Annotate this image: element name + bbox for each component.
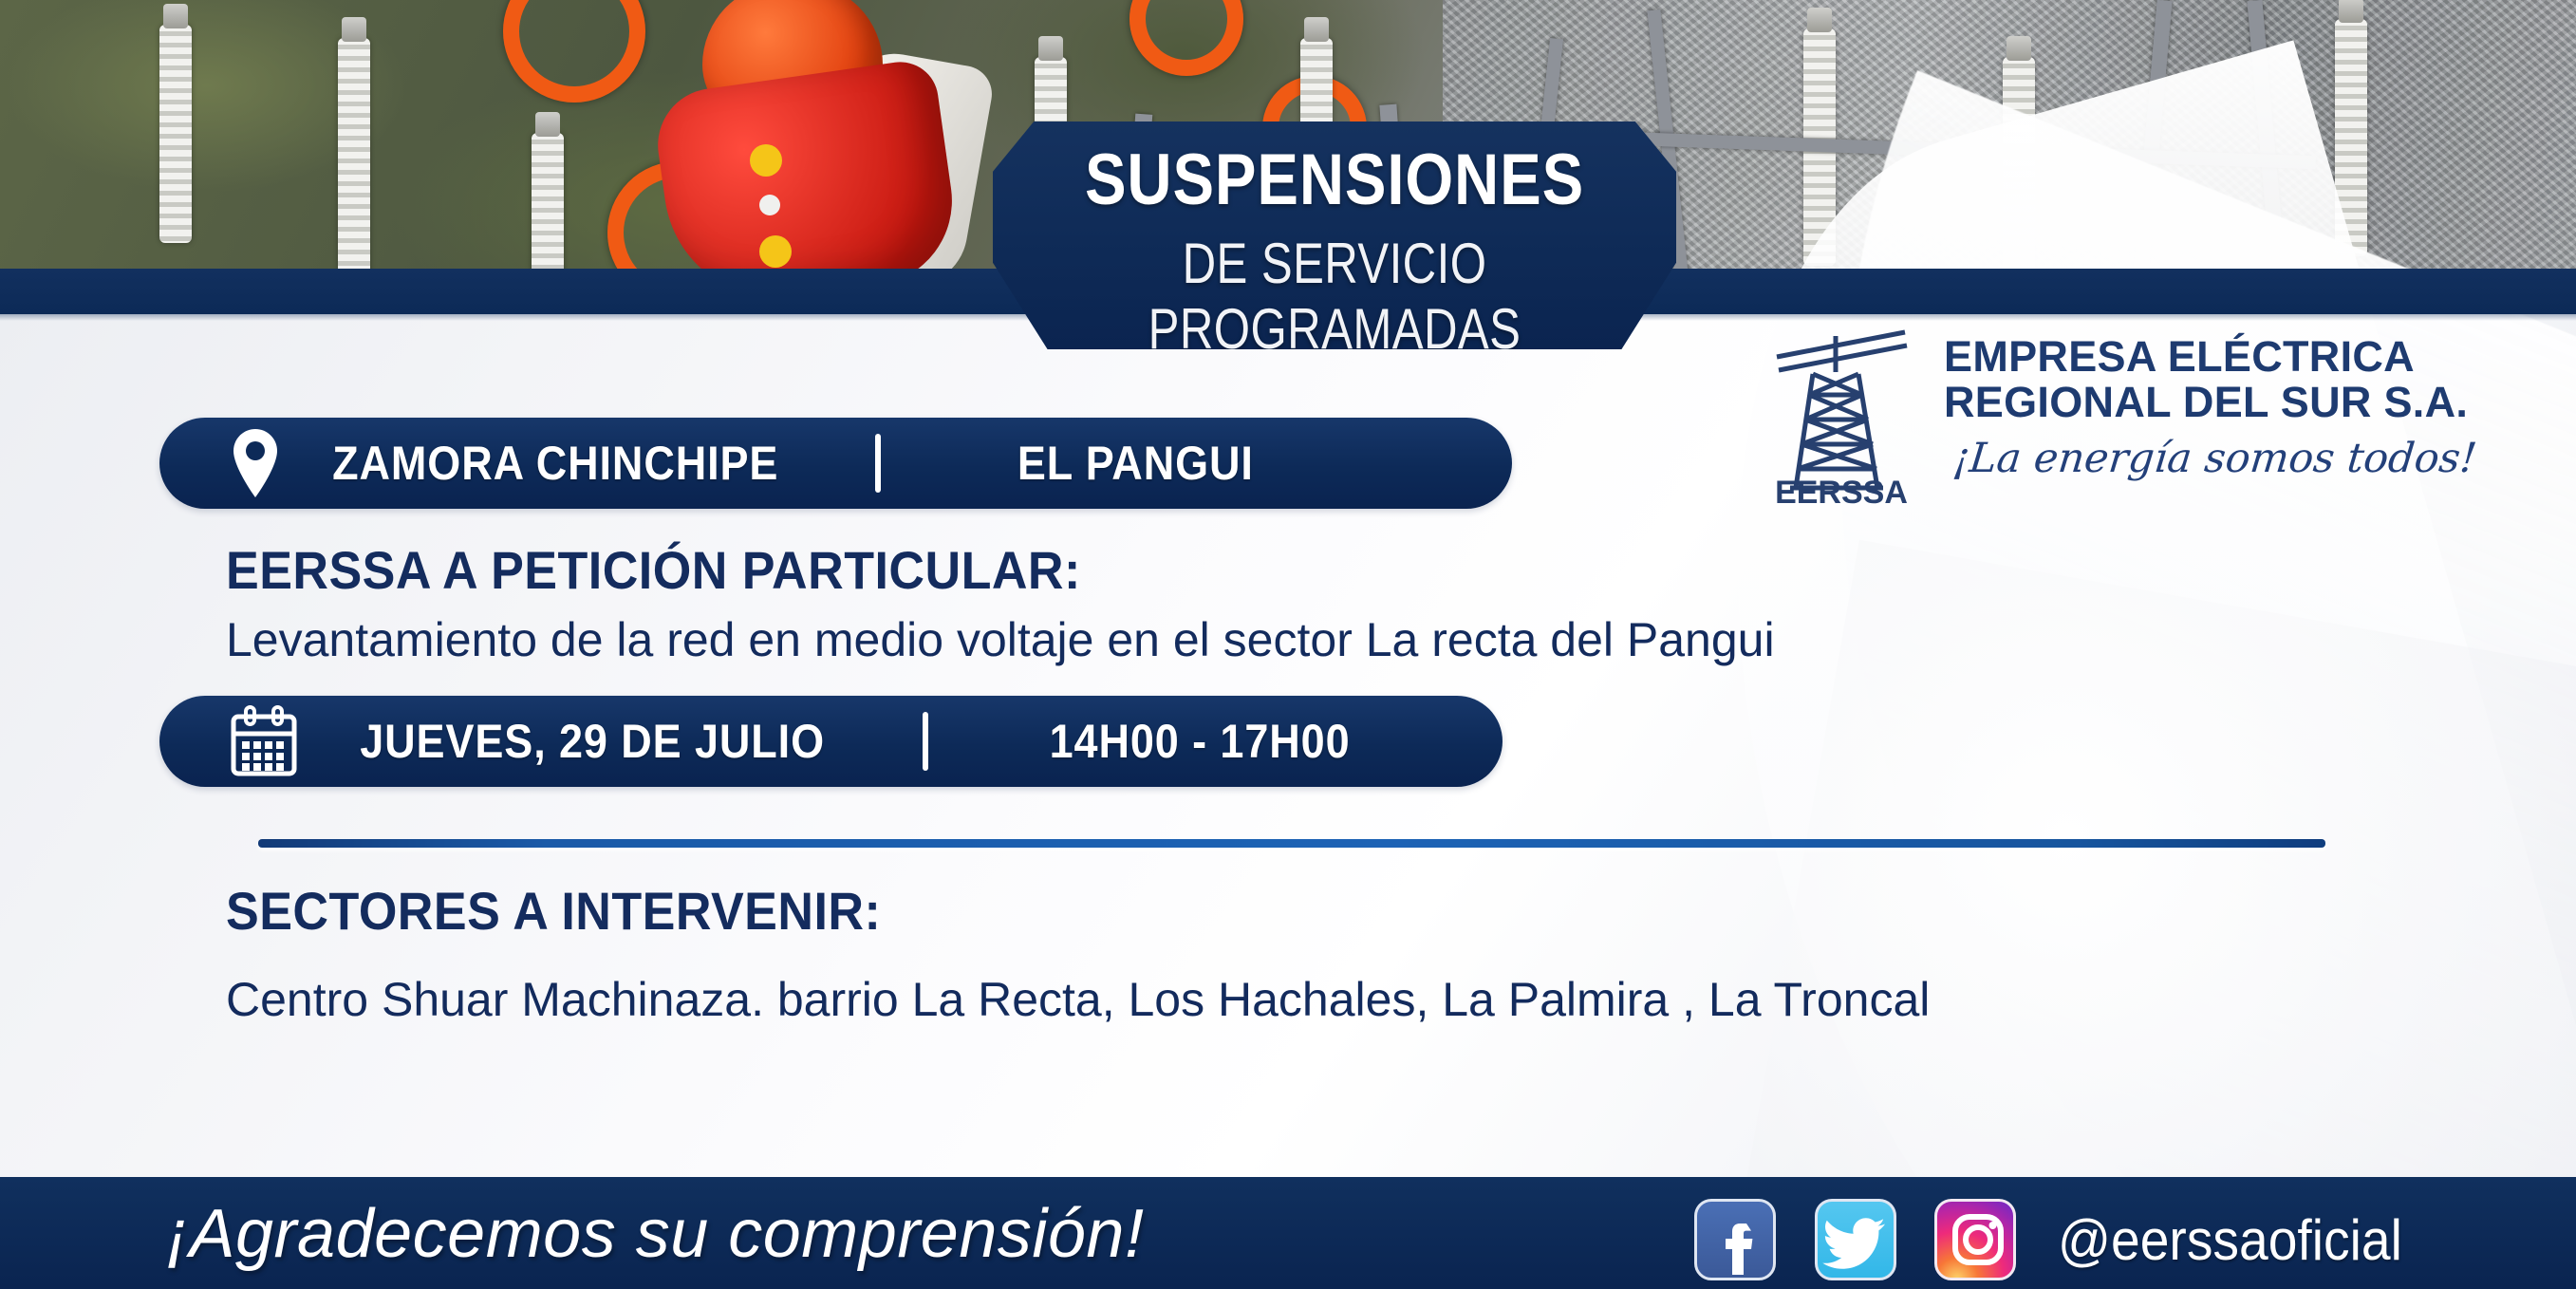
banner-title: SUSPENSIONES [1040,139,1628,221]
photo-vest-dot [750,144,782,177]
photo-insulator [338,38,370,285]
pill-divider [923,712,928,771]
photo-worker-vest [650,57,962,285]
schedule-time: 14H00 - 17H00 [1050,714,1351,769]
photo-vest-dot [759,195,780,215]
location-province: ZAMORA CHINCHIPE [332,436,778,491]
sectors-list: Centro Shuar Machinaza. barrio La Recta,… [226,972,1930,1027]
schedule-pill: JUEVES, 29 DE JULIO 14H00 - 17H00 [159,696,1503,787]
logo-slogan: ¡La energía somos todos! [1951,435,2478,482]
pill-divider [875,434,881,493]
logo-brand-line1: EMPRESA ELÉCTRICA [1944,334,2468,380]
logo-mark-text: EERSSA [1775,475,1908,505]
logo-brand-name: EMPRESA ELÉCTRICA REGIONAL DEL SUR S.A. [1944,334,2468,424]
section-divider [258,839,2325,848]
photo-insulator [159,25,192,243]
request-label: EERSSA A PETICIÓN PARTICULAR: [226,539,1081,601]
suspension-notice-poster: SUSPENSIONES DE SERVICIO PROGRAMADAS [0,0,2576,1289]
transmission-tower-icon: EERSSA [1767,325,1919,505]
photo-insulator [532,133,564,285]
photo-vest-dot [759,235,792,268]
footer-thanks-text: ¡Agradecemos su comprensión! [166,1195,1144,1273]
banner-plaque: SUSPENSIONES DE SERVICIO PROGRAMADAS [993,121,1676,349]
instagram-icon[interactable] [1934,1199,2016,1280]
banner-subtitle: DE SERVICIO PROGRAMADAS [1055,231,1615,362]
eerssa-logo: EERSSA EMPRESA ELÉCTRICA REGIONAL DEL SU… [1767,321,2375,511]
twitter-icon[interactable] [1815,1199,1896,1280]
request-description: Levantamiento de la red en medio voltaje… [226,612,1775,667]
schedule-date: JUEVES, 29 DE JULIO [360,714,825,769]
facebook-icon[interactable] [1694,1199,1776,1280]
location-canton: EL PANGUI [1017,436,1254,491]
calendar-icon [230,705,298,777]
social-handle: @eerssaoficial [2058,1207,2402,1273]
map-pin-icon [230,427,281,499]
location-pill: ZAMORA CHINCHIPE EL PANGUI [159,418,1512,509]
logo-brand-line2: REGIONAL DEL SUR S.A. [1944,380,2468,425]
sectors-label: SECTORES A INTERVENIR: [226,880,881,942]
